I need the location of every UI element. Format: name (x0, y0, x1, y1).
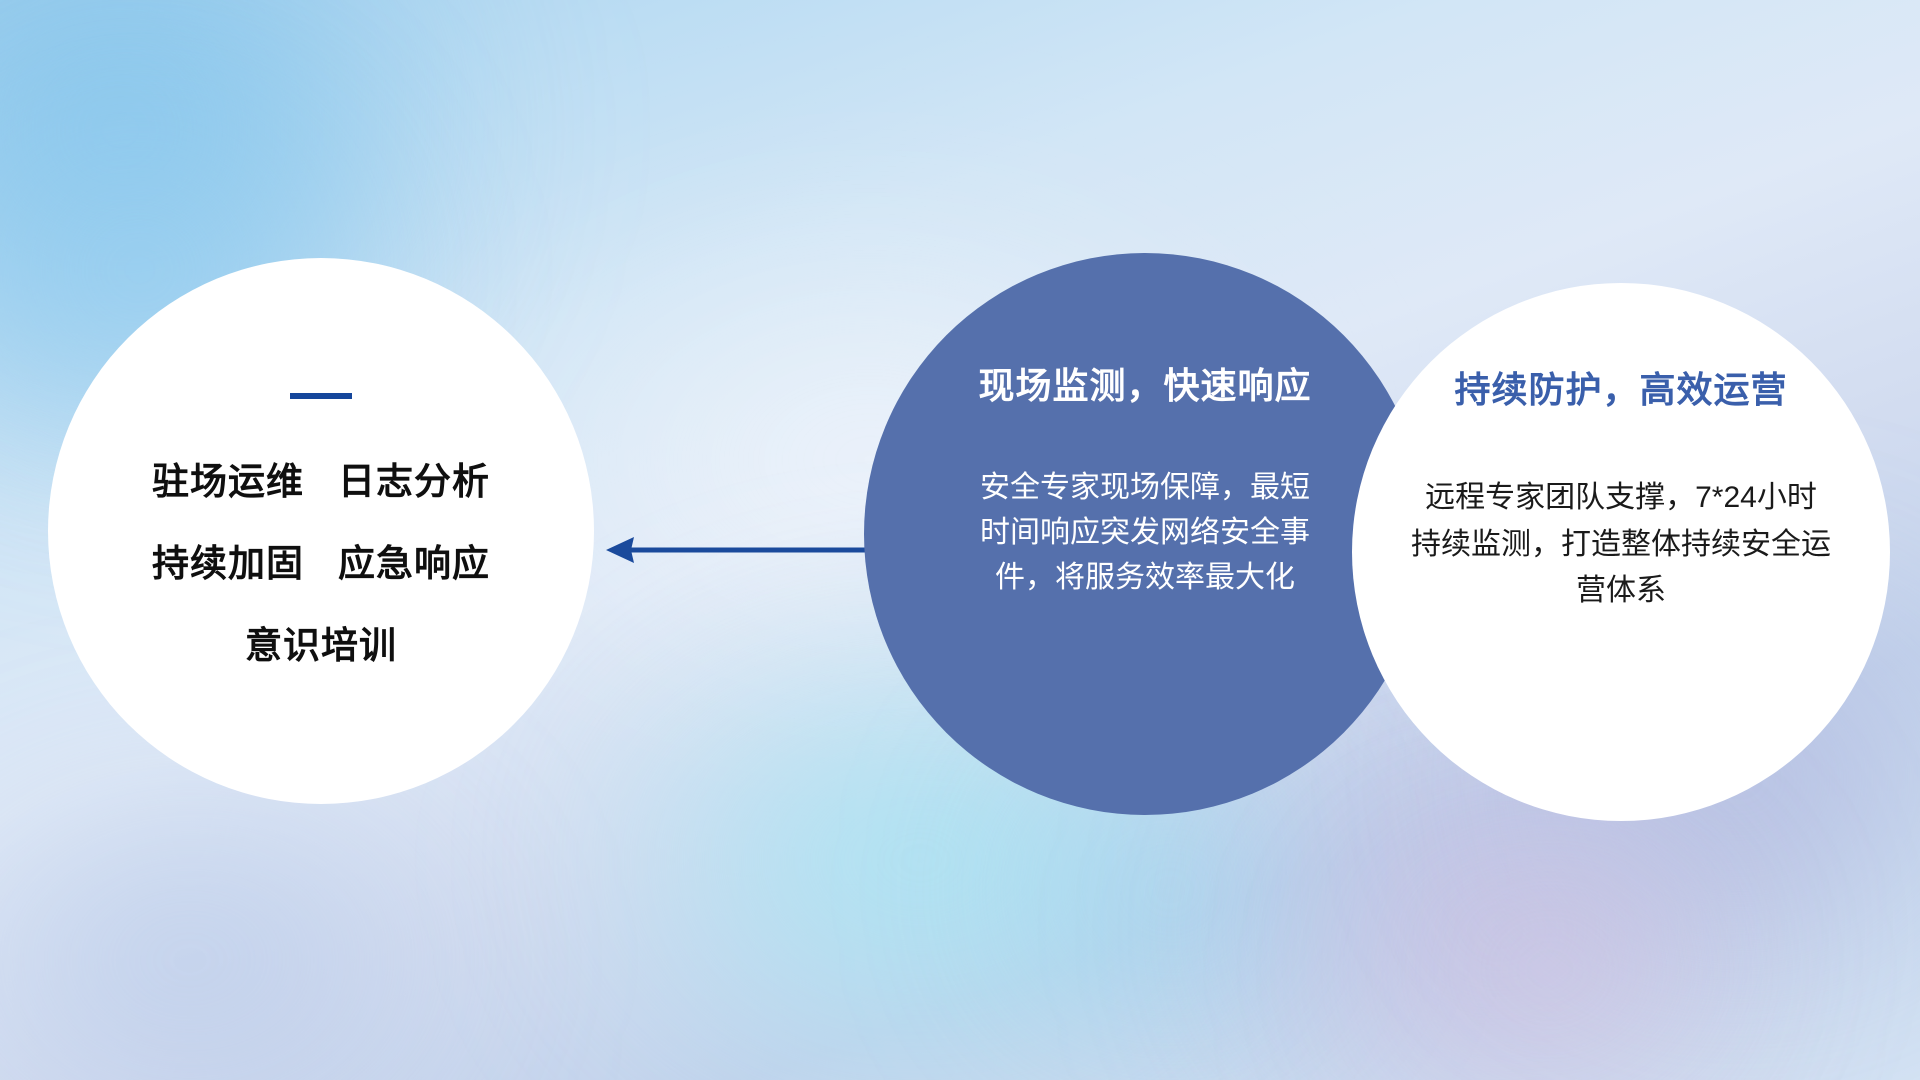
keyword-item: 意识培训 (245, 615, 397, 669)
keyword-item: 驻场运维 (152, 451, 304, 505)
accent-bar-icon (290, 393, 352, 399)
keyword-item: 应急响应 (338, 533, 490, 587)
right-circle-body: 远程专家团队支撑，7*24小时持续监测，打造整体持续安全运营体系 (1411, 475, 1831, 615)
keyword-row: 驻场运维 日志分析 (152, 451, 490, 505)
capability-circle-right[interactable]: 持续防护，高效运营 远程专家团队支撑，7*24小时持续监测，打造整体持续安全运营… (1352, 283, 1890, 821)
keyword-list: 驻场运维 日志分析 持续加固 应急响应 意识培训 (152, 451, 490, 669)
center-circle-body: 安全专家现场保障，最短时间响应突发网络安全事件，将服务效率最大化 (970, 465, 1320, 600)
right-circle-title: 持续防护，高效运营 (1454, 361, 1787, 413)
keyword-row: 意识培训 (245, 615, 397, 669)
slide-canvas: 驻场运维 日志分析 持续加固 应急响应 意识培训 现场监测，快速响应 安全专家现… (0, 0, 1920, 1080)
keyword-item: 日志分析 (338, 451, 490, 505)
center-circle-title: 现场监测，快速响应 (978, 357, 1311, 409)
keyword-row: 持续加固 应急响应 (152, 533, 490, 587)
capability-circle-left[interactable]: 驻场运维 日志分析 持续加固 应急响应 意识培训 (48, 258, 594, 804)
keyword-item: 持续加固 (152, 533, 304, 587)
capability-circle-center[interactable]: 现场监测，快速响应 安全专家现场保障，最短时间响应突发网络安全事件，将服务效率最… (864, 253, 1426, 815)
